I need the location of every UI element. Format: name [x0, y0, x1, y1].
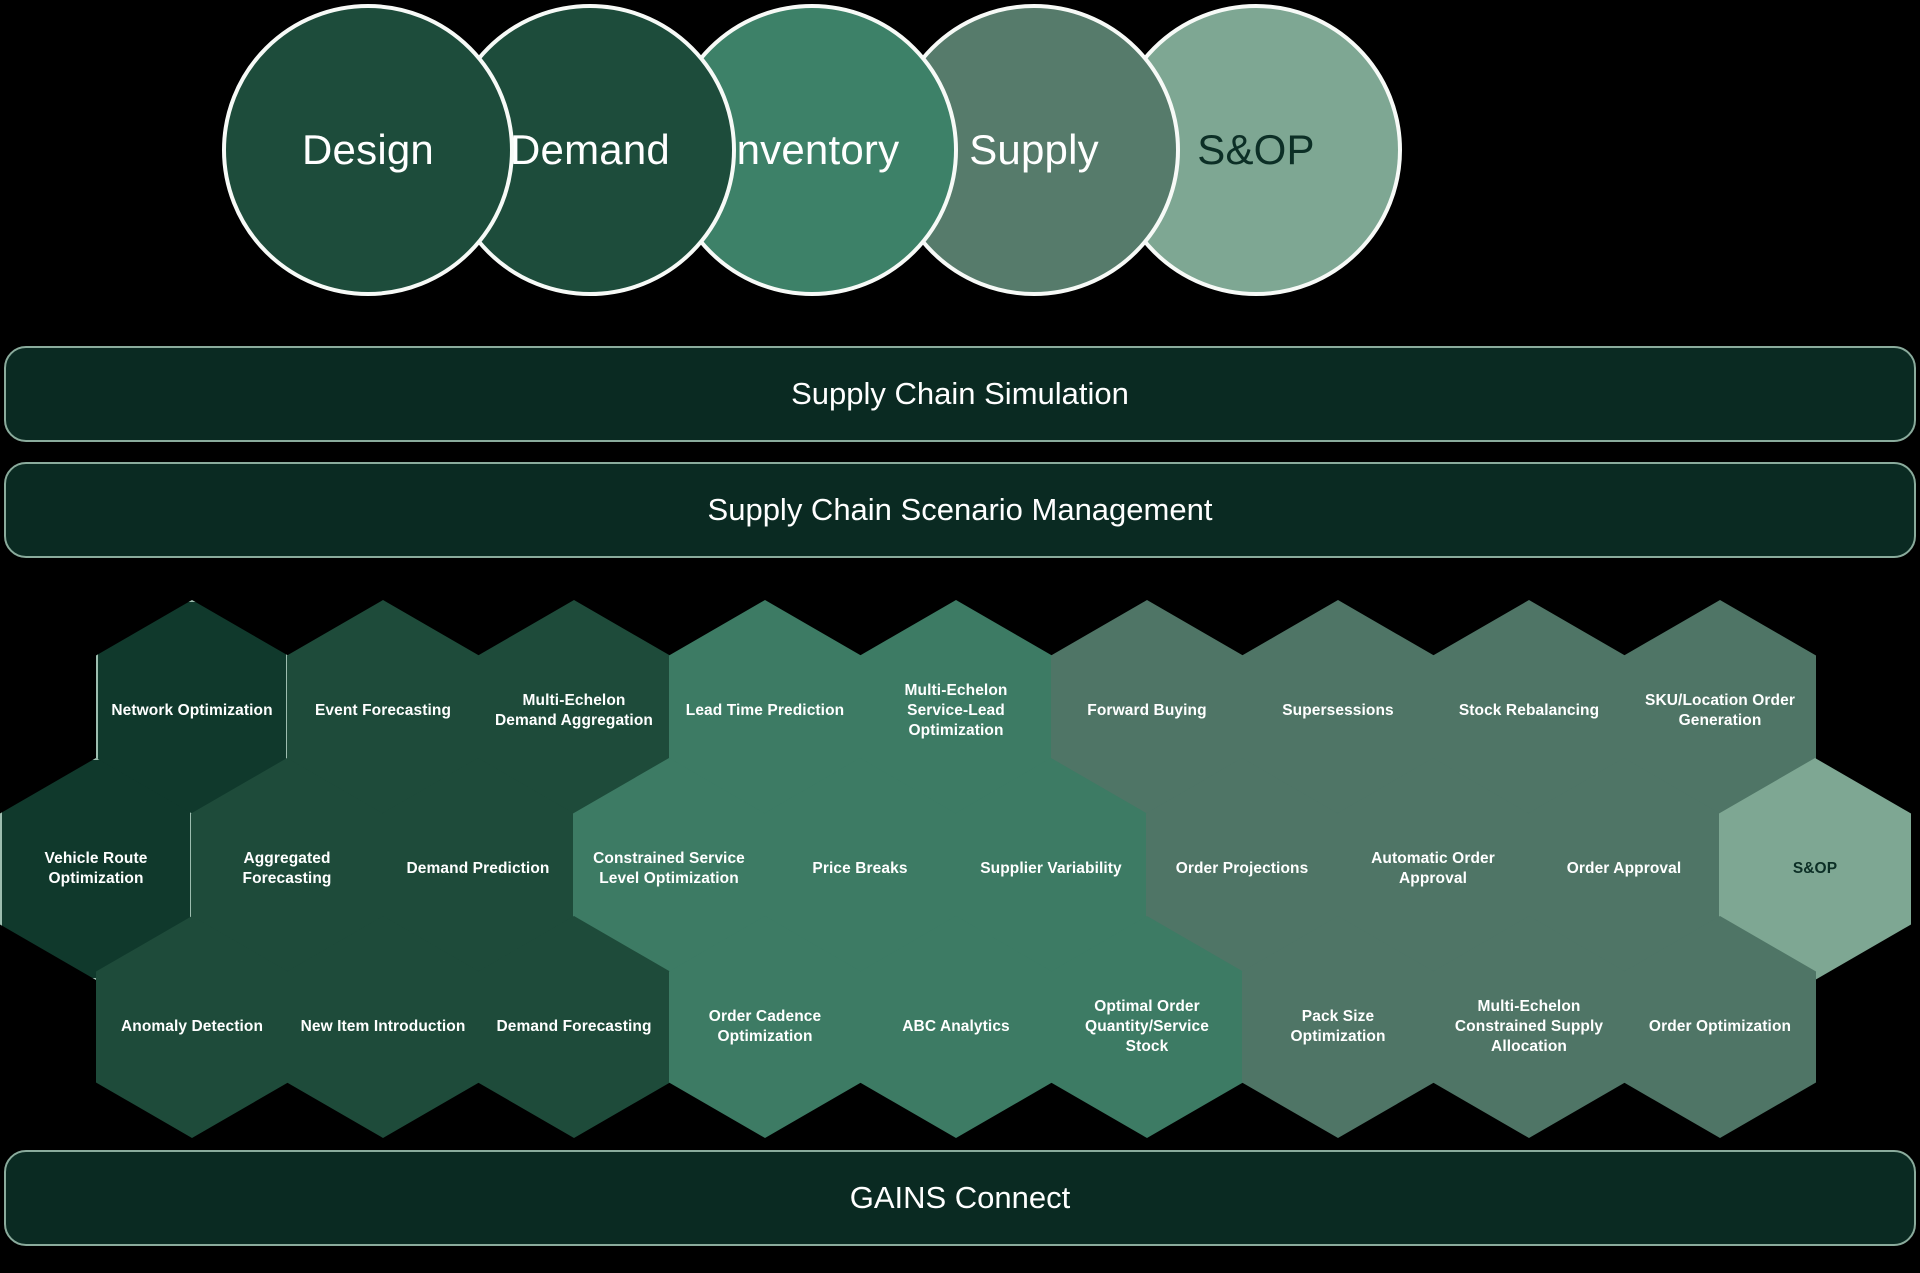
hex-cell-optimal-order-quantity-service-stock[interactable]: Optimal Order Quantity/Service Stock — [1051, 916, 1243, 1138]
hex-cell-label: Price Breaks — [812, 859, 907, 879]
hex-cell-label: Vehicle Route Optimization — [14, 849, 178, 889]
hex-cell-label: Stock Rebalancing — [1459, 701, 1599, 721]
hex-cell-order-cadence-optimization[interactable]: Order Cadence Optimization — [669, 916, 861, 1138]
hex-cell-label: Order Approval — [1567, 859, 1682, 879]
hex-cell-label: Forward Buying — [1087, 701, 1206, 721]
banner-gains-connect[interactable]: GAINS Connect — [4, 1150, 1916, 1246]
hex-cell-label: Multi-Echelon Demand Aggregation — [490, 691, 658, 731]
hex-cell-label: Automatic Order Approval — [1349, 849, 1517, 889]
hex-cell-anomaly-detection[interactable]: Anomaly Detection — [96, 916, 288, 1138]
hex-cell-pack-size-optimization[interactable]: Pack Size Optimization — [1242, 916, 1434, 1138]
hex-cell-label: Network Optimization — [111, 701, 272, 721]
hex-cell-label: Multi-Echelon Constrained Supply Allocat… — [1445, 997, 1613, 1057]
diagram-canvas: DesignDemandInventorySupplyS&OP Supply C… — [0, 0, 1920, 1273]
hex-cell-label: Lead Time Prediction — [686, 701, 844, 721]
hex-cell-multi-echelon-constrained-supply-allocation[interactable]: Multi-Echelon Constrained Supply Allocat… — [1433, 916, 1625, 1138]
hex-cell-label: SKU/Location Order Generation — [1636, 691, 1804, 731]
hex-cell-demand-forecasting[interactable]: Demand Forecasting — [478, 916, 670, 1138]
hex-cell-abc-analytics[interactable]: ABC Analytics — [860, 916, 1052, 1138]
hex-cell-label: S&OP — [1793, 859, 1837, 879]
capability-hex-grid: Network OptimizationEvent ForecastingMul… — [0, 600, 1920, 1130]
pillar-circle-label: Inventory — [725, 126, 900, 174]
pillar-circle-label: S&OP — [1197, 126, 1315, 174]
hex-cell-label: Optimal Order Quantity/Service Stock — [1063, 997, 1231, 1057]
hex-row-3: Anomaly DetectionNew Item IntroductionDe… — [0, 916, 1920, 1092]
hex-cell-label: Supplier Variability — [980, 859, 1122, 879]
hex-cell-label: Anomaly Detection — [121, 1017, 263, 1037]
hex-row-1: Network OptimizationEvent ForecastingMul… — [0, 600, 1920, 776]
hex-row-2: Vehicle Route OptimizationAggregated For… — [0, 758, 1920, 934]
hex-cell-label: Pack Size Optimization — [1254, 1007, 1422, 1047]
pillar-circle-label: Design — [302, 126, 434, 174]
hex-cell-label: Constrained Service Level Optimization — [585, 849, 753, 889]
hex-cell-label: Order Optimization — [1649, 1017, 1791, 1037]
hex-cell-label: Demand Prediction — [407, 859, 550, 879]
hex-cell-label: Multi-Echelon Service-Lead Optimization — [872, 681, 1040, 741]
hex-cell-label: New Item Introduction — [301, 1017, 466, 1037]
hex-cell-label: Order Projections — [1176, 859, 1309, 879]
pillar-circle-label: Supply — [969, 126, 1099, 174]
banner-supply-chain-scenario-management[interactable]: Supply Chain Scenario Management — [4, 462, 1916, 558]
hex-cell-label: Supersessions — [1282, 701, 1394, 721]
pillar-circle-design[interactable]: Design — [222, 4, 514, 296]
hex-cell-order-optimization[interactable]: Order Optimization — [1624, 916, 1816, 1138]
pillar-circle-row: DesignDemandInventorySupplyS&OP — [0, 0, 1920, 300]
hex-cell-label: ABC Analytics — [902, 1017, 1010, 1037]
banner-scenario-label: Supply Chain Scenario Management — [708, 492, 1213, 528]
hex-cell-label: Order Cadence Optimization — [681, 1007, 849, 1047]
banner-supply-chain-simulation[interactable]: Supply Chain Simulation — [4, 346, 1916, 442]
hex-cell-label: Demand Forecasting — [496, 1017, 651, 1037]
pillar-circle-label: Demand — [510, 126, 670, 174]
hex-cell-label: Aggregated Forecasting — [203, 849, 371, 889]
banner-simulation-label: Supply Chain Simulation — [791, 376, 1129, 412]
banner-connect-label: GAINS Connect — [850, 1180, 1071, 1216]
hex-cell-new-item-introduction[interactable]: New Item Introduction — [287, 916, 479, 1138]
hex-cell-label: Event Forecasting — [315, 701, 451, 721]
